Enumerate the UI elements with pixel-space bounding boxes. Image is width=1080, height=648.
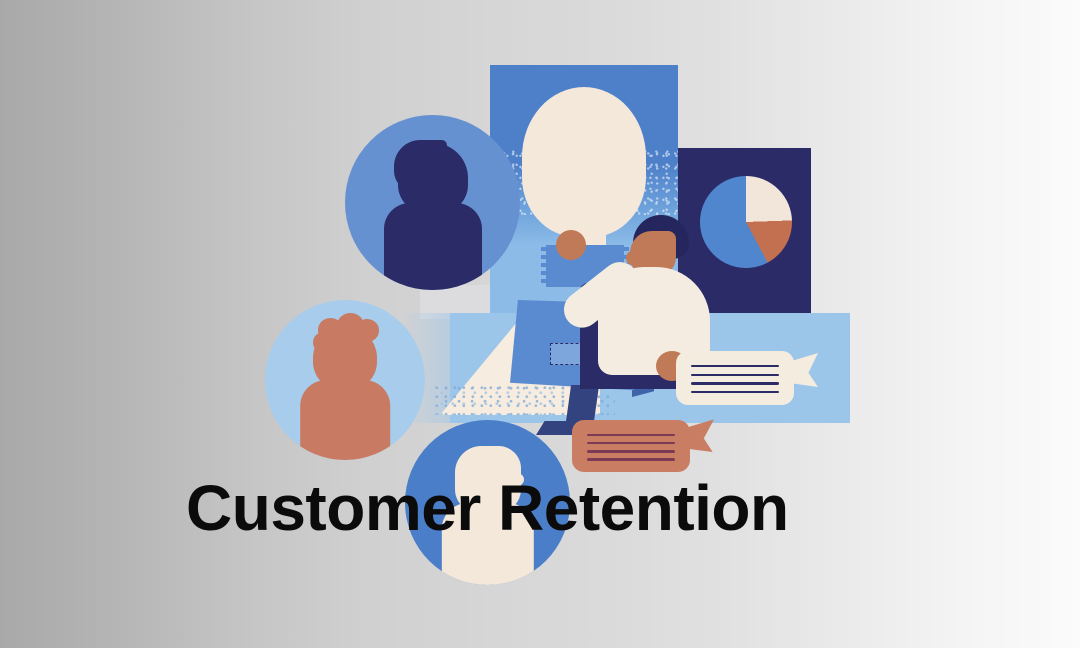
bubble-line: [587, 450, 674, 452]
bubble-line: [587, 442, 674, 444]
avatar-two: [265, 300, 425, 460]
speech-bubble-cream: [676, 351, 794, 405]
avatar-two-curl: [313, 332, 334, 353]
bubble-line: [587, 434, 674, 436]
page-title: Customer Retention: [186, 476, 789, 540]
person-hand-raised: [556, 230, 586, 260]
bubble-line: [691, 365, 778, 367]
bubble-line: [691, 391, 778, 393]
avatar-two-bust: [300, 380, 390, 460]
avatar-two-curl: [355, 319, 379, 341]
avatar-one-bust: [384, 203, 482, 291]
bubble-line: [587, 458, 674, 460]
pie-chart: [700, 176, 792, 268]
avatar-one-nose: [450, 173, 466, 187]
banner-image: Customer Retention: [0, 0, 1080, 648]
bubble-line: [691, 382, 778, 384]
bubble-tail: [680, 418, 714, 452]
bubble-line: [691, 374, 778, 376]
avatar-one-hair: [394, 140, 447, 193]
speech-bubble-terracotta: [572, 420, 690, 472]
avatar-one: [345, 115, 520, 290]
